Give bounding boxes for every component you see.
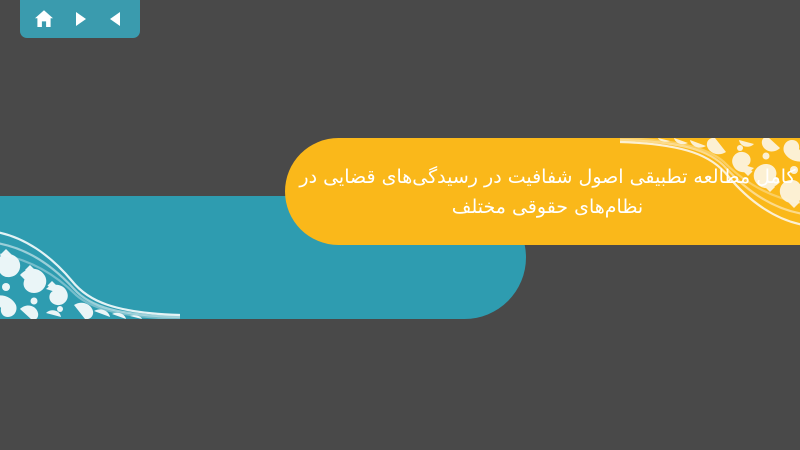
navigation-bar: [20, 0, 140, 38]
triangle-left-icon: [106, 9, 126, 29]
triangle-right-icon: [70, 9, 90, 29]
teal-arabesque-ornament-icon: [0, 209, 180, 319]
back-button[interactable]: [101, 5, 131, 33]
presentation-slide: کامل مطالعه تطبیقی اصول شفافیت در رسیدگی…: [0, 0, 800, 450]
forward-button[interactable]: [65, 5, 95, 33]
home-icon: [33, 8, 55, 30]
home-button[interactable]: [29, 5, 59, 33]
orange-title-panel: کامل مطالعه تطبیقی اصول شفافیت در رسیدگی…: [285, 138, 800, 245]
slide-title: کامل مطالعه تطبیقی اصول شفافیت در رسیدگی…: [285, 162, 800, 222]
